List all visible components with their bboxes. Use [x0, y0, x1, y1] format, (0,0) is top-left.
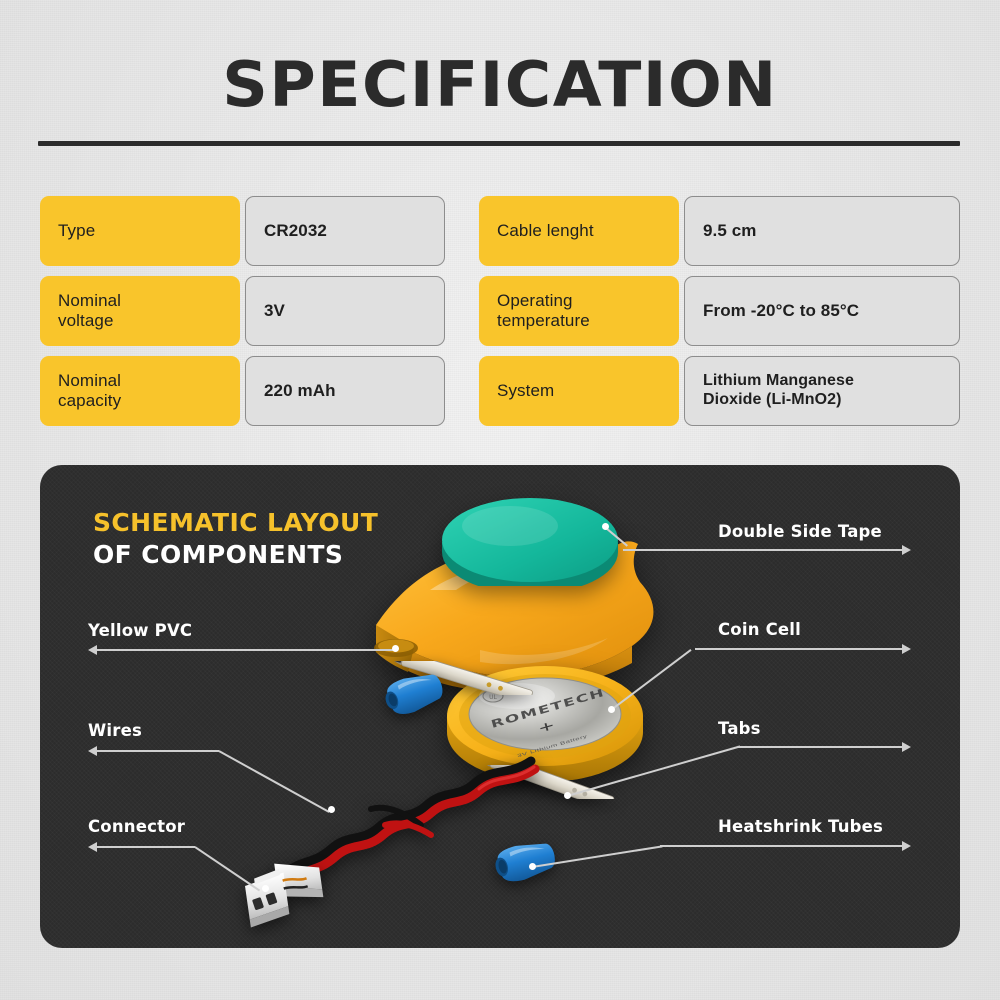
page-title: SPECIFICATION — [0, 48, 1000, 121]
callout-arrow-yellow-pvc — [88, 645, 97, 655]
callout-label-coin-cell: Coin Cell — [718, 620, 801, 639]
callout-line-double-side-tape — [623, 549, 903, 551]
spec-value-nominal-capacity: 220 mAh — [245, 356, 445, 426]
callout-label-tabs: Tabs — [718, 719, 761, 738]
callout-dot-double-side-tape — [602, 523, 609, 530]
callout-arrow-double-side-tape — [902, 545, 911, 555]
spec-value-type: CR2032 — [245, 196, 445, 266]
callout-line-heatshrink-tubes — [660, 845, 903, 847]
spec-label-nominal-voltage: Nominalvoltage — [40, 276, 240, 346]
callout-label-heatshrink-tubes: Heatshrink Tubes — [718, 817, 883, 836]
callout-arrow-tabs — [902, 742, 911, 752]
callout-label-double-side-tape: Double Side Tape — [718, 522, 882, 541]
callout-label-yellow-pvc: Yellow PVC — [88, 621, 192, 640]
callout-line-tabs — [738, 746, 903, 748]
spec-value-cable-lenght: 9.5 cm — [684, 196, 960, 266]
callout-arrow-connector — [88, 842, 97, 852]
callout-dot-coin-cell — [608, 706, 615, 713]
callout-line-connector — [97, 846, 195, 848]
column-gap — [450, 356, 474, 426]
callout-label-wires: Wires — [88, 721, 142, 740]
column-gap — [450, 196, 474, 266]
schematic-panel: SCHEMATIC LAYOUT OF COMPONENTS — [40, 465, 960, 948]
heatshrink-tube-upper-graphic — [380, 673, 450, 721]
callout-line-wires — [97, 750, 219, 752]
spec-value-nominal-voltage: 3V — [245, 276, 445, 346]
double-side-tape-graphic — [440, 490, 620, 586]
callout-dot-yellow-pvc — [392, 645, 399, 652]
spec-label-operating-temperature: Operatingtemperature — [479, 276, 679, 346]
spec-label-type: Type — [40, 196, 240, 266]
spec-label-system: System — [479, 356, 679, 426]
title-divider — [38, 141, 960, 146]
jst-connector-graphic — [238, 850, 338, 930]
callout-line-coin-cell — [695, 648, 903, 650]
specification-table: Type CR2032 Cable lenght 9.5 cm Nominalv… — [40, 196, 960, 426]
callout-arrow-heatshrink-tubes — [902, 841, 911, 851]
spec-value-system: Lithium ManganeseDioxide (Li-MnO2) — [684, 356, 960, 426]
column-gap — [450, 276, 474, 346]
callout-dot-heatshrink-tubes — [529, 863, 536, 870]
callout-dot-connector — [262, 885, 269, 892]
spec-label-nominal-capacity: Nominalcapacity — [40, 356, 240, 426]
callout-label-connector: Connector — [88, 817, 185, 836]
spec-label-cable-lenght: Cable lenght — [479, 196, 679, 266]
callout-arrow-wires — [88, 746, 97, 756]
callout-dot-tabs — [564, 792, 571, 799]
callout-dot-wires — [328, 806, 335, 813]
callout-line-yellow-pvc — [97, 649, 395, 651]
spec-value-operating-temperature: From -20°C to 85°C — [684, 276, 960, 346]
callout-arrow-coin-cell — [902, 644, 911, 654]
